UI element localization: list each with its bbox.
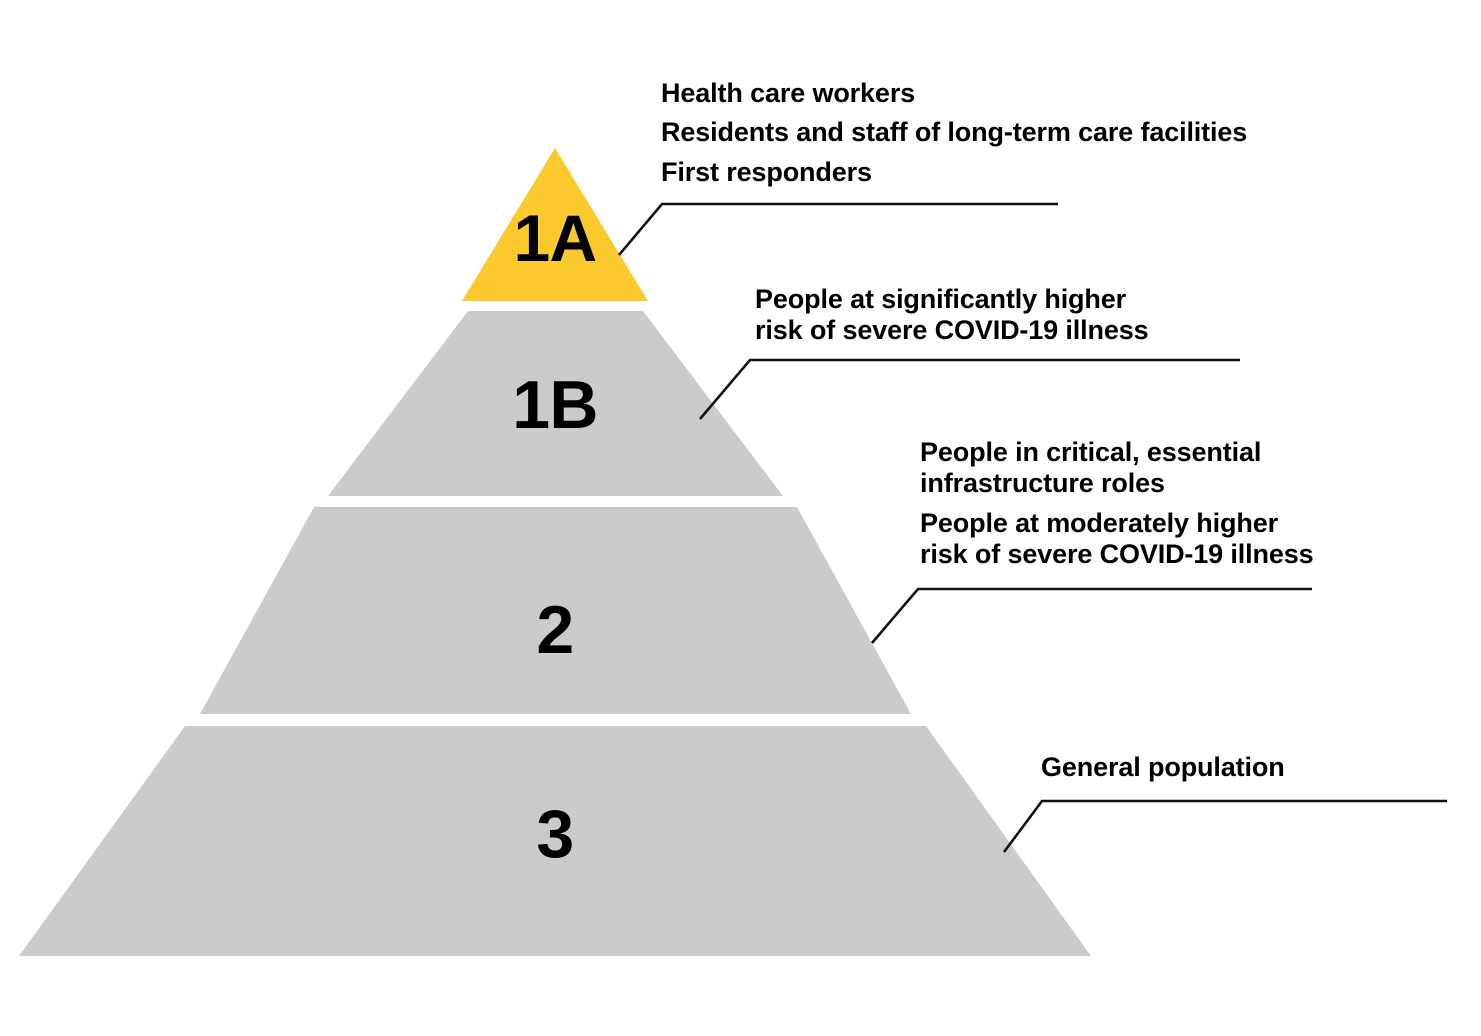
callout-tier-2-item-1: People in critical, essential infrastruc… xyxy=(920,437,1314,500)
callout-tier-1a-item-3: First responders xyxy=(661,157,1247,188)
tier-label-2: 2 xyxy=(462,596,648,664)
leader-line-tier-1b xyxy=(700,360,1240,419)
leader-line-tier-3 xyxy=(1004,801,1447,852)
callout-group-tier-2: People in critical, essential infrastruc… xyxy=(920,437,1314,570)
tier-label-1a: 1A xyxy=(462,205,648,271)
tier-label-1b: 1B xyxy=(462,371,648,439)
callout-text: People at moderately higher xyxy=(920,508,1314,539)
diagram-canvas: 1A 1B 2 3 Health care workers Residents … xyxy=(0,0,1481,1036)
callout-text: risk of severe COVID-19 illness xyxy=(755,315,1149,346)
callout-text: General population xyxy=(1041,752,1285,783)
callout-tier-1a-item-2: Residents and staff of long-term care fa… xyxy=(661,117,1247,148)
callout-text: First responders xyxy=(661,157,1247,188)
callout-text: risk of severe COVID-19 illness xyxy=(920,539,1314,570)
leader-line-tier-1a xyxy=(619,204,1058,255)
callout-group-tier-1a: Health care workers Residents and staff … xyxy=(661,78,1247,188)
callout-tier-1b-item-1: People at significantly higher risk of s… xyxy=(755,284,1149,347)
callout-text: Residents and staff of long-term care fa… xyxy=(661,117,1247,148)
callout-text: Health care workers xyxy=(661,78,1247,109)
callout-group-tier-1b: People at significantly higher risk of s… xyxy=(755,284,1149,347)
callout-text: infrastructure roles xyxy=(920,468,1314,499)
callout-tier-3-item-1: General population xyxy=(1041,752,1285,783)
tier-label-3: 3 xyxy=(462,800,648,868)
callout-tier-1a-item-1: Health care workers xyxy=(661,78,1247,109)
callout-text: People at significantly higher xyxy=(755,284,1149,315)
leader-line-tier-2 xyxy=(872,589,1312,643)
callout-text: People in critical, essential xyxy=(920,437,1314,468)
callout-group-tier-3: General population xyxy=(1041,752,1285,783)
callout-tier-2-item-2: People at moderately higher risk of seve… xyxy=(920,508,1314,571)
